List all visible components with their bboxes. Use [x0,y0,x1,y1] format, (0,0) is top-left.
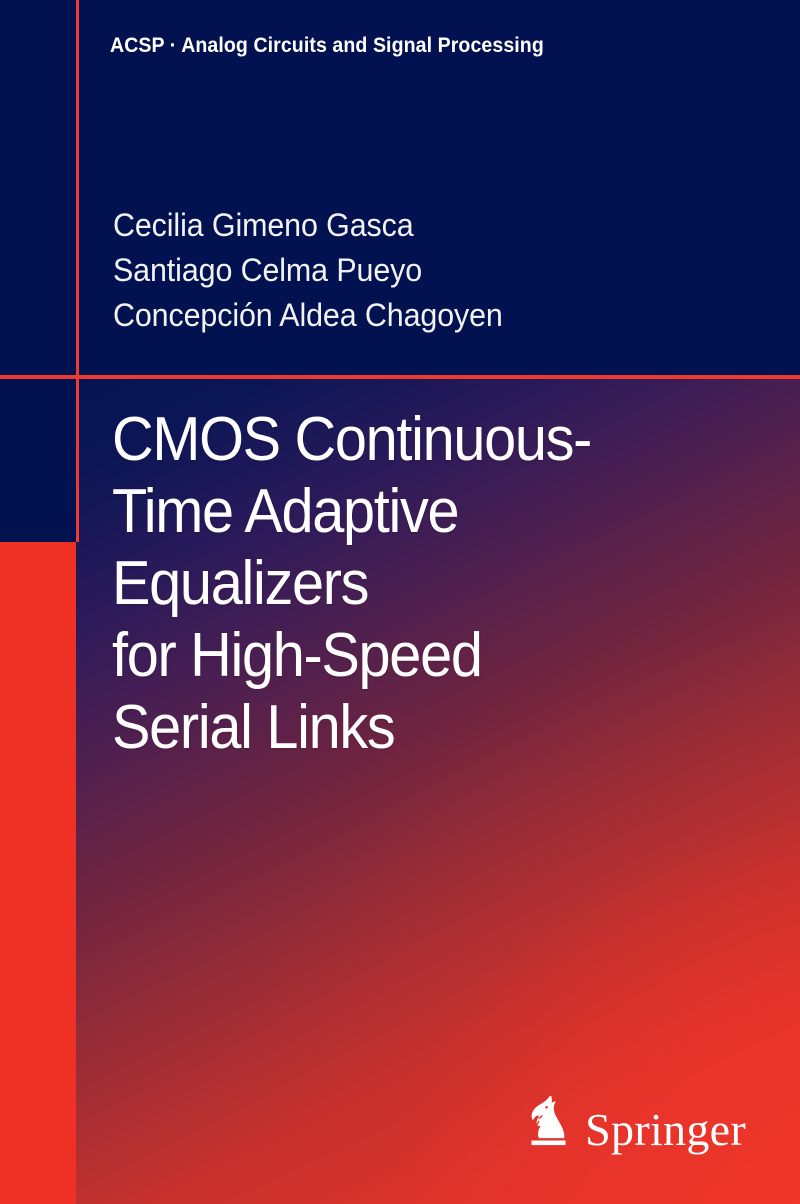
title-line: CMOS Continuous- [112,404,735,476]
title-line: Equalizers [112,548,735,620]
publisher-logo: Springer [527,1094,746,1156]
series-title: ACSP · Analog Circuits and Signal Proces… [110,34,544,58]
horizontal-red-rule [0,375,800,379]
title-line: Time Adaptive [112,476,735,548]
title-line: for High-Speed [112,620,735,692]
title-line: Serial Links [112,692,735,764]
book-cover: ACSP · Analog Circuits and Signal Proces… [0,0,800,1204]
springer-knight-icon [527,1094,573,1156]
author-name: Cecilia Gimeno Gasca [113,203,740,248]
left-strip-red [0,542,76,1204]
author-name: Santiago Celma Pueyo [113,248,740,293]
springer-wordmark: Springer [585,1104,746,1156]
author-name: Concepción Aldea Chagoyen [113,293,740,338]
vertical-red-rule [76,0,79,542]
left-strip-navy [0,0,76,542]
book-title: CMOS Continuous- Time Adaptive Equalizer… [112,404,782,764]
author-list: Cecilia Gimeno Gasca Santiago Celma Puey… [113,203,773,338]
